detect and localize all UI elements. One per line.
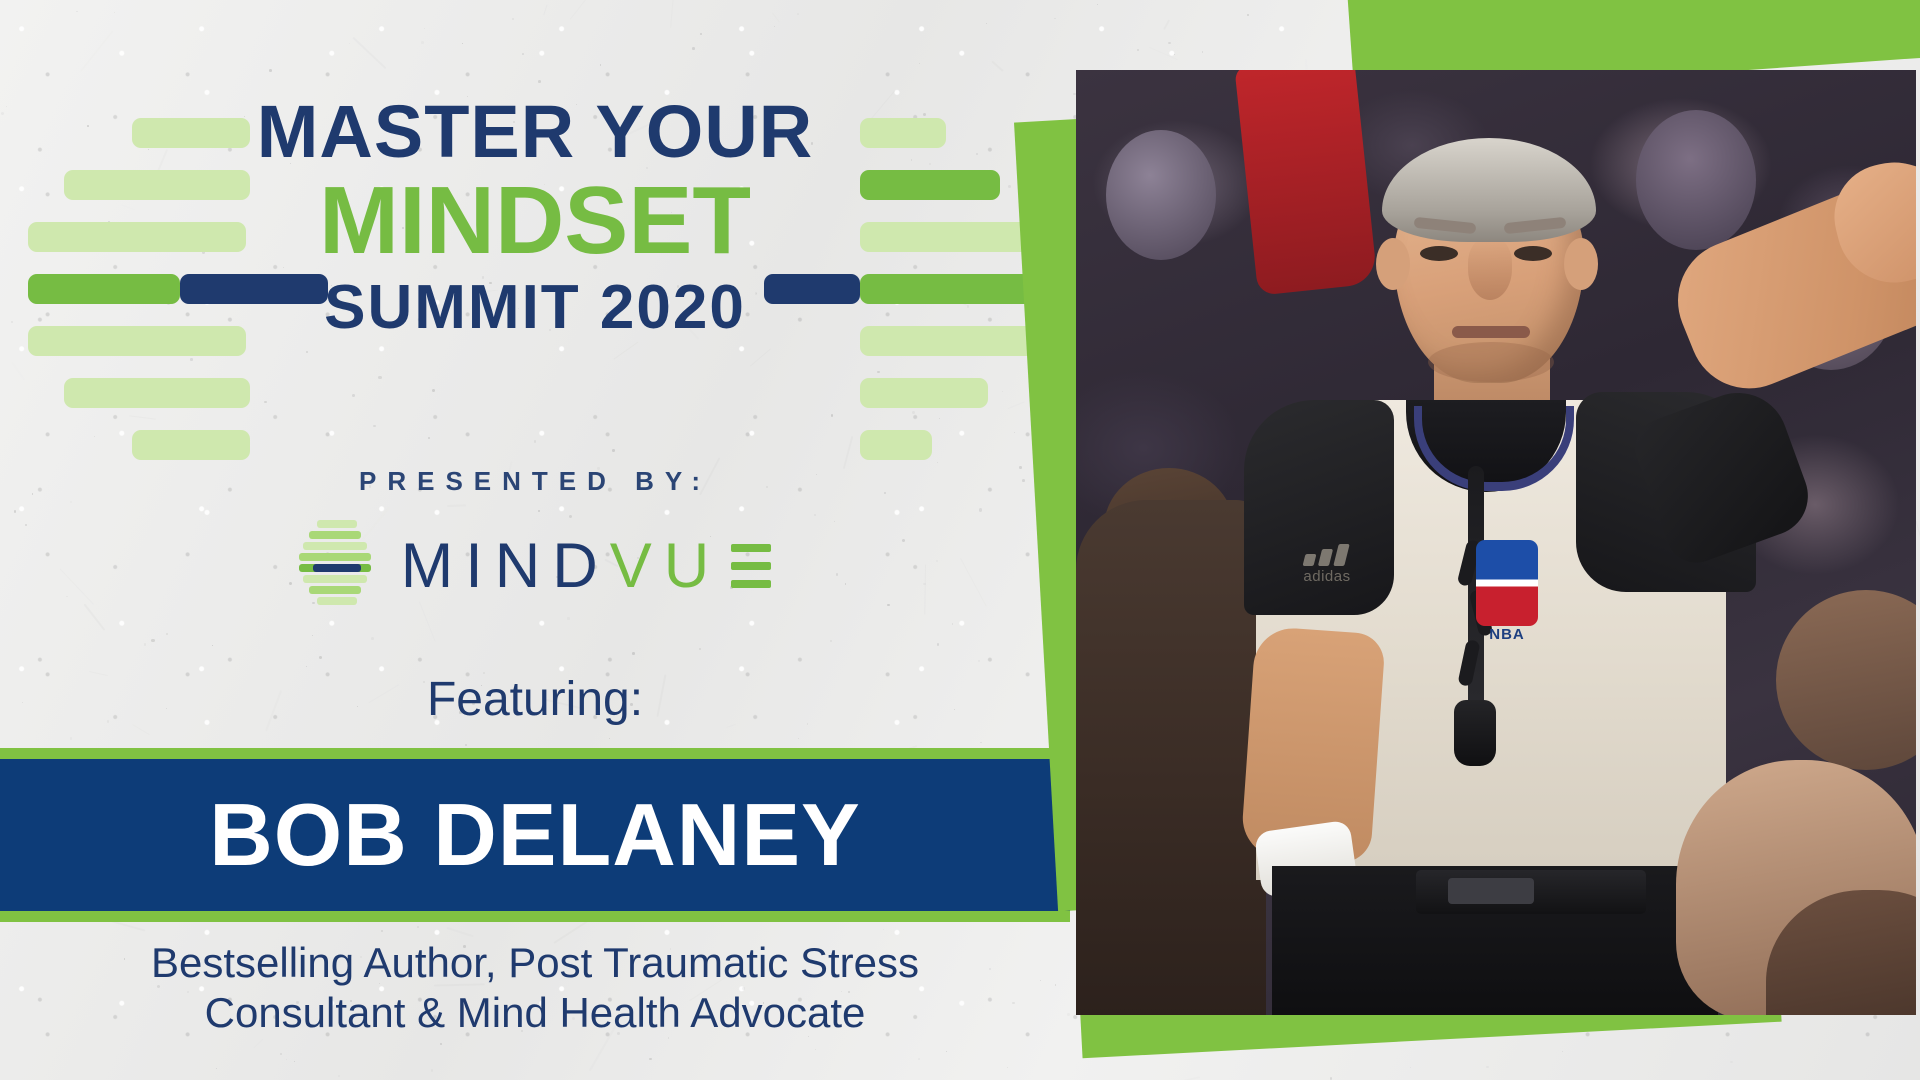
nba-logo-label: NBA [1476,626,1538,643]
decorative-bar-7 [860,430,932,460]
headline-line-2: MINDSET [0,173,1070,269]
whistle [1454,700,1496,766]
decorative-bar-6 [64,378,250,408]
logo-mark-accent-bar [313,564,361,572]
headline-line-1: MASTER YOUR [0,96,1070,167]
speaker-subtitle-line-1: Bestselling Author, Post Traumatic Stres… [0,938,1070,988]
poster-canvas: MASTER YOUR MINDSET SUMMIT 2020 PRESENTE… [0,0,1920,1080]
logo-mark-bar-5 [303,575,367,583]
referee-eye-left [1420,246,1458,261]
nba-logo-icon [1476,540,1538,626]
sleeve-brand-label: adidas [1288,568,1366,585]
speaker-name: BOB DELANEY [0,759,1070,911]
decorative-bar-6 [860,378,988,408]
event-headline: MASTER YOUR MINDSET SUMMIT 2020 [0,96,1070,339]
speaker-name-band: BOB DELANEY [0,759,1070,911]
logo-mark-bar-3 [299,553,371,561]
referee-nose [1468,238,1512,300]
referee-chin-shadow [1428,342,1554,382]
crowd-red-jacket [1234,70,1377,296]
mindvue-bars-logo-mark-icon [299,520,375,612]
logo-word-vu: VU [610,535,722,598]
logo-mark-bar-7 [317,597,357,605]
logo-mark-bar-2 [303,542,367,550]
name-band-bottom-rule [0,911,1070,922]
mindvue-wordmark: MIND VU [401,535,772,598]
mindvue-logo: MIND VU [0,520,1070,612]
speaker-subtitle: Bestselling Author, Post Traumatic Stres… [0,938,1070,1039]
name-band-top-rule [0,748,1070,759]
adidas-stripes-icon [1304,544,1358,566]
referee-belt-buckle [1448,878,1534,904]
crowd-face-blob [1106,130,1216,260]
logo-word-mind: MIND [401,535,610,598]
left-content-column: MASTER YOUR MINDSET SUMMIT 2020 PRESENTE… [0,0,1070,1080]
referee-ear-left [1376,238,1410,290]
headline-line-3: SUMMIT 2020 [0,277,1070,339]
referee-eye-right [1514,246,1552,261]
crowd-person-left-body [1076,500,1266,1015]
crowd-face-blob [1636,110,1756,250]
decorative-bar-7 [132,430,250,460]
logo-mark-bar-0 [317,520,357,528]
speaker-subtitle-line-2: Consultant & Mind Health Advocate [0,988,1070,1038]
presented-by-label: PRESENTED BY: [0,466,1070,497]
logo-letter-e-bars-icon [731,540,771,592]
referee-ear-right [1564,238,1598,290]
logo-mark-bar-1 [309,531,361,539]
speaker-photo-panel: NBA adidas [1020,0,1920,1080]
featuring-label: Featuring: [0,672,1070,727]
referee-mouth [1452,326,1530,338]
speaker-photograph: NBA adidas [1076,70,1916,1015]
logo-mark-bar-6 [309,586,361,594]
